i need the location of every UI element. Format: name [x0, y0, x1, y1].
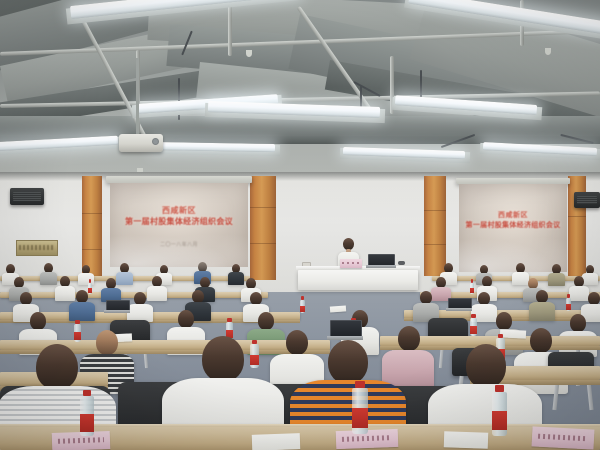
plaque-engraving	[19, 245, 54, 250]
sprinkler-drop-pipe	[228, 2, 232, 56]
name-card-text	[538, 434, 588, 442]
paper-handout	[252, 433, 301, 450]
slide-title-line1: 西咸新区	[110, 205, 248, 216]
wood-trim-column-far-right	[568, 176, 586, 276]
laptop-base	[366, 265, 396, 268]
electrical-conduit	[420, 70, 422, 100]
attendee-head	[328, 340, 368, 384]
podium-name-card	[340, 259, 362, 268]
left-screen-housing	[106, 176, 252, 183]
water-bottle	[470, 318, 477, 336]
name-card-text	[58, 437, 105, 443]
laptop	[448, 298, 470, 311]
right-wall-speaker	[574, 192, 600, 208]
attendee-head	[202, 336, 244, 382]
slide-cloud-graphic	[459, 230, 567, 272]
paper-handout	[330, 305, 346, 312]
projector	[119, 134, 163, 152]
water-bottle	[470, 283, 474, 294]
water-bottle	[566, 298, 571, 311]
name-card-text	[342, 435, 392, 441]
slide-title-line1: 西咸新区	[459, 210, 567, 220]
water-bottle	[492, 392, 507, 436]
slide-title-line2: 第一届村股集体经济组织会议	[459, 220, 567, 230]
water-bottle	[352, 388, 368, 434]
fire-sprinkler-head	[246, 50, 252, 57]
projector-mount-pole	[136, 58, 139, 136]
left-projector-screen: 西咸新区 第一届村股集体经济组织会议 二〇一八年八月	[110, 183, 248, 267]
conference-room-photo: 西咸新区 第一届村股集体经济组织会议 二〇一八年八月 西咸新区 第一届村股集体经…	[0, 0, 600, 450]
wall-plaque	[16, 240, 58, 256]
water-bottle	[250, 344, 259, 368]
right-projector-screen: 西咸新区 第一届村股集体经济组织会议	[459, 184, 567, 272]
name-card-text	[342, 262, 360, 264]
laptop	[330, 320, 360, 340]
attendee-head	[466, 344, 506, 388]
speaker-grill	[577, 196, 598, 204]
microphone	[398, 261, 405, 265]
water-bottle	[80, 396, 94, 436]
water-bottle	[300, 300, 305, 313]
wood-trim-column-center	[250, 176, 276, 280]
ceiling	[0, 0, 600, 178]
slide-title-line2: 第一届村股集体经济组织会议	[110, 216, 248, 227]
wood-trim-column-right	[424, 176, 446, 276]
water-bottle	[74, 324, 81, 342]
speaker-grill	[13, 192, 40, 201]
presenter-table	[298, 270, 418, 290]
fire-sprinkler-head	[545, 48, 551, 55]
slide-subtitle: 二〇一八年八月	[110, 241, 248, 248]
water-bottle	[88, 283, 92, 294]
laptop	[106, 300, 128, 313]
attendee-head	[36, 344, 78, 390]
left-wall-speaker	[10, 188, 44, 205]
name-card-tent	[532, 426, 595, 449]
presenter-laptop	[368, 254, 393, 268]
paper-handout	[444, 431, 489, 449]
projector-lens	[152, 138, 159, 145]
